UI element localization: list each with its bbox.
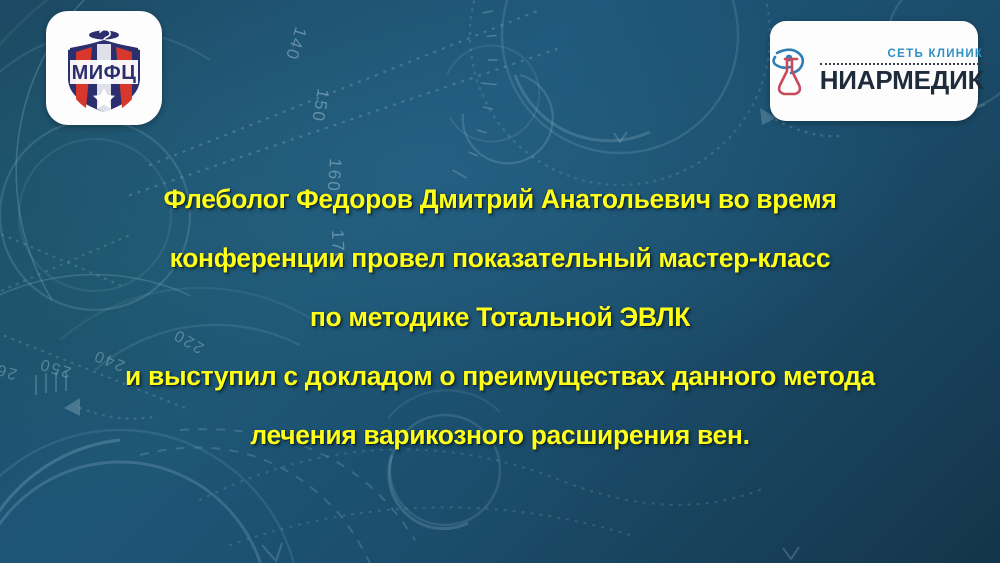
circle-cluster-upper-right [447,46,553,164]
mifc-logo-card: МИФЦ [46,11,162,125]
headline-line-1: Флеболог Федоров Дмитрий Анатольевич во … [0,170,1000,229]
niarmedik-tagline: СЕТЬ КЛИНИК [888,49,984,61]
mifc-wordmark: МИФЦ [72,62,137,84]
ring-group-top-right [470,0,770,185]
dotted-rays-upper [130,10,560,195]
mifc-logo: МИФЦ [56,20,152,116]
niarmedik-logo-card: СЕТЬ КЛИНИК НИАРМЕДИК [770,21,978,121]
headline-block: Флеболог Федоров Дмитрий Анатольевич во … [0,170,1000,465]
dial-label-140: 140 [282,25,311,64]
headline-line-2: конференции провел показательный мастер-… [0,229,1000,288]
niarmedik-wordmark: НИАРМЕДИК [820,67,984,93]
slide-canvas: 140 150 160 170 [0,0,1000,563]
arrow-marker-bottom [262,543,456,563]
dial-label-150: 150 [308,87,333,124]
headline-line-4: и выступил с докладом о преимуществах да… [0,347,1000,406]
niarmedik-flask-icon [769,43,815,99]
headline-line-5: лечения варикозного расширения вен. [0,406,1000,465]
headline-line-3: по методике Тотальной ЭВЛК [0,288,1000,347]
